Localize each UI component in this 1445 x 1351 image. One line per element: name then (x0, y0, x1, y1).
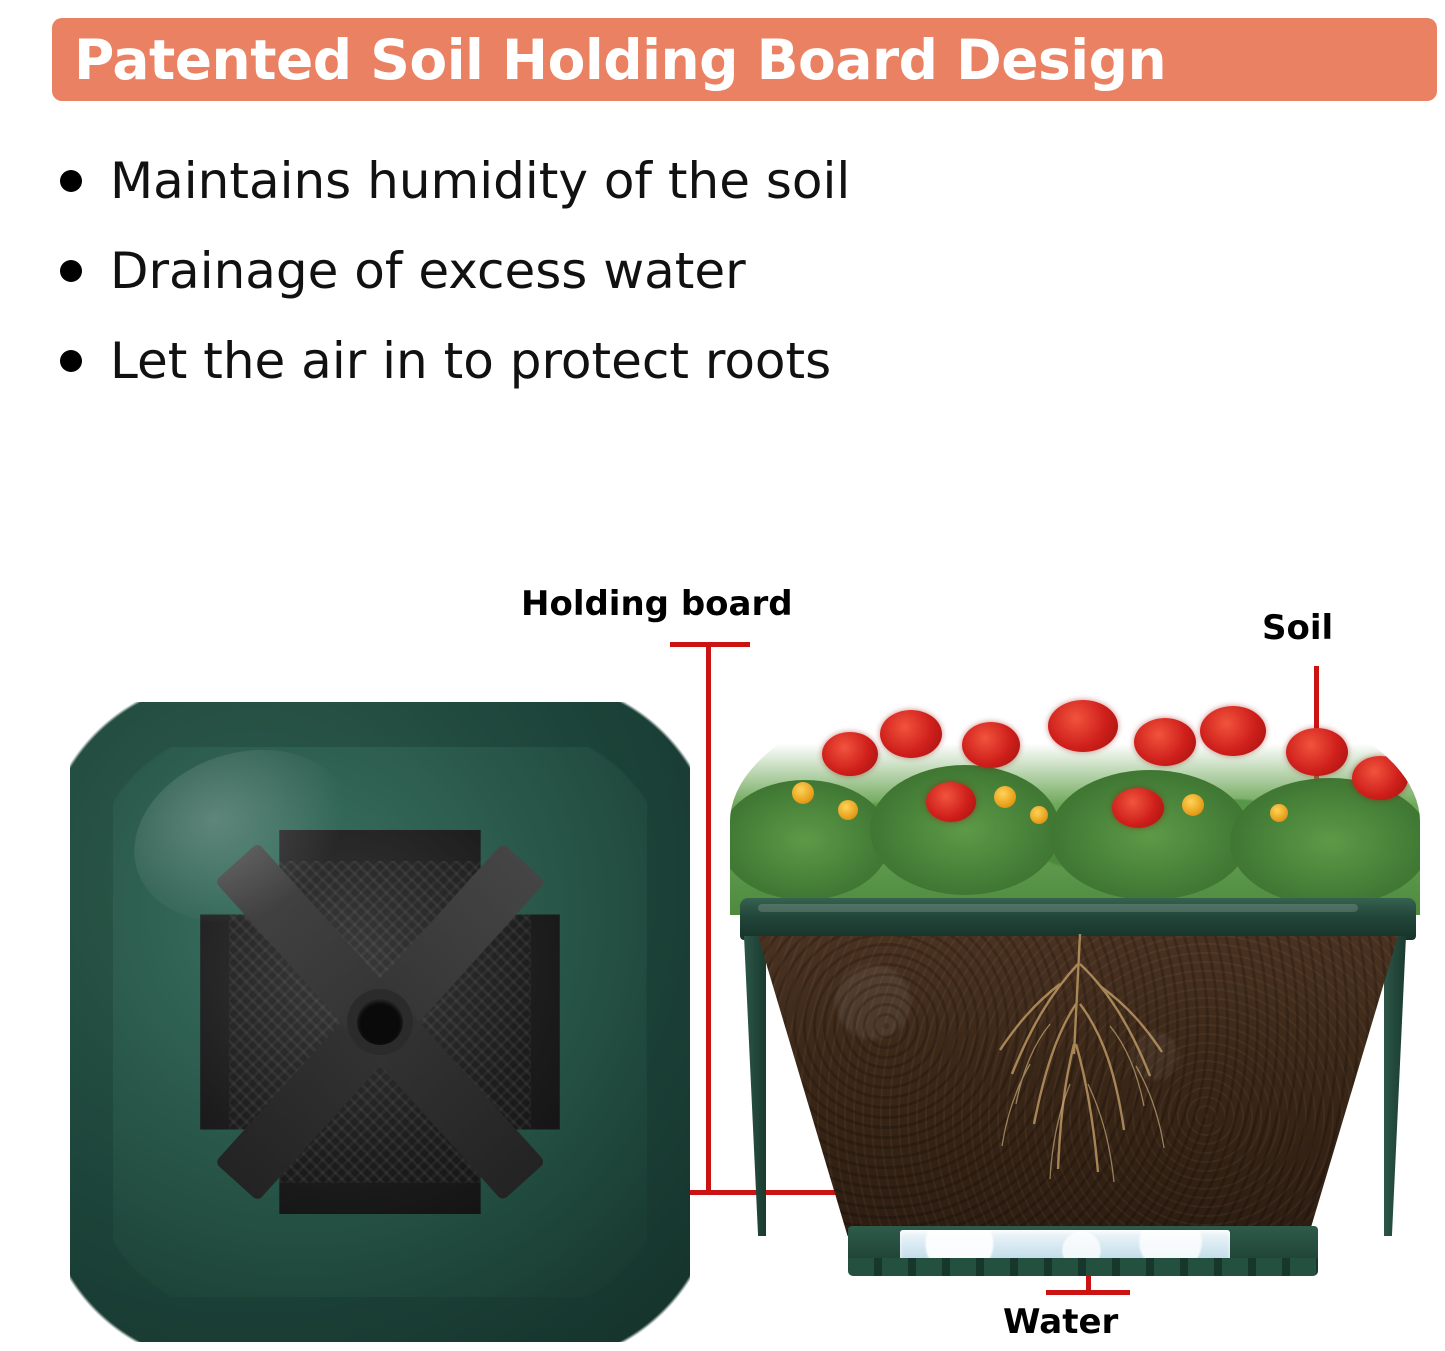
red-flower (1134, 718, 1196, 766)
red-flower (962, 722, 1020, 768)
list-item: Drainage of excess water (60, 238, 1160, 304)
bullet-dot-icon (60, 350, 82, 372)
red-flower (926, 782, 976, 822)
yellow-bud (1030, 806, 1048, 824)
pot-rim-highlight (758, 904, 1358, 912)
pot-wall-left (744, 936, 766, 1236)
pot-wall-right (1384, 936, 1406, 1236)
plant-foliage (730, 670, 1420, 915)
red-flower (1048, 700, 1118, 752)
yellow-bud (792, 782, 814, 804)
red-flower (1286, 728, 1348, 776)
callout-label-holding-board: Holding board (521, 584, 793, 624)
bullet-dot-icon (60, 170, 82, 192)
drainage-hole (357, 999, 403, 1045)
feature-text: Let the air in to protect roots (110, 328, 831, 394)
soil-holding-board-product-image (70, 702, 690, 1342)
yellow-bud (994, 786, 1016, 808)
yellow-bud (1182, 794, 1204, 816)
plant-roots (960, 934, 1200, 1194)
tray-base-feet (848, 1258, 1318, 1276)
leader-line-holding-board-vertical (706, 642, 711, 1194)
yellow-bud (1270, 804, 1288, 822)
callout-label-soil: Soil (1262, 608, 1333, 648)
red-flower (1112, 788, 1164, 828)
list-item: Maintains humidity of the soil (60, 148, 1160, 214)
red-flower (1200, 706, 1266, 756)
feature-text: Maintains humidity of the soil (110, 148, 850, 214)
red-flower (822, 732, 878, 776)
list-item: Let the air in to protect roots (60, 328, 1160, 394)
red-flower (880, 710, 942, 758)
yellow-bud (838, 800, 858, 820)
feature-list: Maintains humidity of the soil Drainage … (60, 148, 1160, 418)
page-title: Patented Soil Holding Board Design (74, 28, 1166, 92)
product-diagram: Holding board Soil Water (0, 560, 1445, 1351)
planter-cross-section-image (730, 670, 1420, 1270)
red-flower (1352, 756, 1408, 800)
callout-label-water: Water (1003, 1302, 1118, 1342)
bullet-dot-icon (60, 260, 82, 282)
feature-text: Drainage of excess water (110, 238, 746, 304)
title-banner: Patented Soil Holding Board Design (52, 18, 1437, 101)
